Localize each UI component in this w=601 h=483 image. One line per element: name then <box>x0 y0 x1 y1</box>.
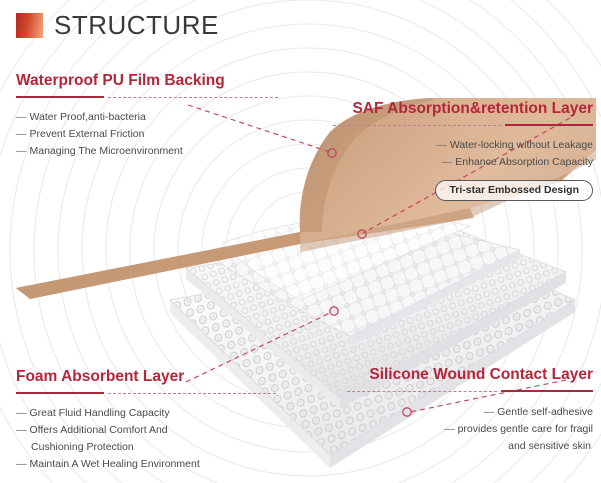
callout-bullets: —Water Proof,anti-bacteria —Prevent Exte… <box>16 109 286 160</box>
list-item: —provides gentle care for fragil <box>293 421 593 438</box>
rule-solid <box>16 392 104 395</box>
bullet-marker: — <box>442 156 453 168</box>
structure-diagram: STRUCTURE Waterproof PU Film Backing —Wa… <box>0 0 601 483</box>
marker-foam <box>330 307 338 315</box>
list-item: —Prevent External Friction <box>16 126 286 143</box>
list-item: —Water-locking without Leakage <box>293 137 593 154</box>
rule-dashed <box>108 97 278 98</box>
bullet-text: Great Fluid Handling Capacity <box>30 407 170 419</box>
page-title: STRUCTURE <box>54 10 219 41</box>
rule-dashed <box>108 393 276 394</box>
bullet-text: Enhance Absorption Capacity <box>455 156 593 168</box>
callout-bullets: —Great Fluid Handling Capacity —Offers A… <box>16 405 291 473</box>
list-item: and sensitive skin <box>293 438 593 455</box>
bullet-marker: — <box>16 111 27 123</box>
bullet-text: Water-locking without Leakage <box>450 139 593 151</box>
bullet-text: Prevent External Friction <box>30 128 145 140</box>
callout-heading: Foam Absorbent Layer <box>16 368 291 386</box>
callout-silicone-wound-contact-layer: Silicone Wound Contact Layer —Gentle sel… <box>293 366 593 455</box>
list-item: —Maintain A Wet Healing Environment <box>16 456 291 473</box>
rule-solid <box>16 96 104 99</box>
bullet-text: Cushioning Protection <box>31 441 134 453</box>
list-item: —Gentle self-adhesive <box>293 404 593 421</box>
list-item: —Great Fluid Handling Capacity <box>16 405 291 422</box>
bullet-marker: — <box>436 139 447 151</box>
bullet-text: provides gentle care for fragil <box>458 423 593 435</box>
bullet-marker: — <box>16 145 27 157</box>
rule-solid <box>505 124 593 127</box>
callout-saf-absorption-retention-layer: SAF Absorption&retention Layer —Water-lo… <box>293 100 593 201</box>
bullet-marker: — <box>16 424 27 436</box>
bullet-marker: — <box>16 458 27 470</box>
list-item: —Water Proof,anti-bacteria <box>16 109 286 126</box>
bullet-text: Water Proof,anti-bacteria <box>30 111 146 123</box>
bullet-marker: — <box>484 406 495 418</box>
callout-bullets: —Gentle self-adhesive —provides gentle c… <box>293 404 593 455</box>
bullet-marker: — <box>444 423 455 435</box>
marker-saf <box>358 230 366 238</box>
tristar-embossed-design-badge: Tri-star Embossed Design <box>435 180 593 201</box>
callout-foam-absorbent-layer: Foam Absorbent Layer —Great Fluid Handli… <box>16 368 291 473</box>
callout-heading: Waterproof PU Film Backing <box>16 72 286 90</box>
callout-waterproof-pu-film-backing: Waterproof PU Film Backing —Water Proof,… <box>16 72 286 160</box>
list-item: —Enhance Absorption Capacity <box>293 154 593 171</box>
brand-mark-icon <box>16 13 43 38</box>
callout-heading: Silicone Wound Contact Layer <box>293 366 593 384</box>
badge-row: Tri-star Embossed Design <box>293 180 593 201</box>
callout-rule <box>293 121 593 130</box>
bullet-text: Offers Additional Comfort And <box>30 424 168 436</box>
bullet-text: Gentle self-adhesive <box>497 406 593 418</box>
callout-bullets: —Water-locking without Leakage —Enhance … <box>293 137 593 171</box>
bullet-text: Managing The Microenvironment <box>30 145 183 157</box>
list-item: Cushioning Protection <box>16 439 291 456</box>
list-item: —Offers Additional Comfort And <box>16 422 291 439</box>
bullet-text: and sensitive skin <box>508 440 591 452</box>
callout-rule <box>16 93 286 102</box>
list-item: —Managing The Microenvironment <box>16 143 286 160</box>
page-header: STRUCTURE <box>16 10 219 41</box>
bullet-marker: — <box>16 128 27 140</box>
callout-rule <box>293 387 593 396</box>
rule-solid <box>501 390 593 393</box>
callout-rule <box>16 389 291 398</box>
bullet-marker: — <box>16 407 27 419</box>
rule-dashed <box>347 391 497 392</box>
callout-heading: SAF Absorption&retention Layer <box>293 100 593 118</box>
rule-dashed <box>333 125 501 126</box>
bullet-text: Maintain A Wet Healing Environment <box>30 458 200 470</box>
